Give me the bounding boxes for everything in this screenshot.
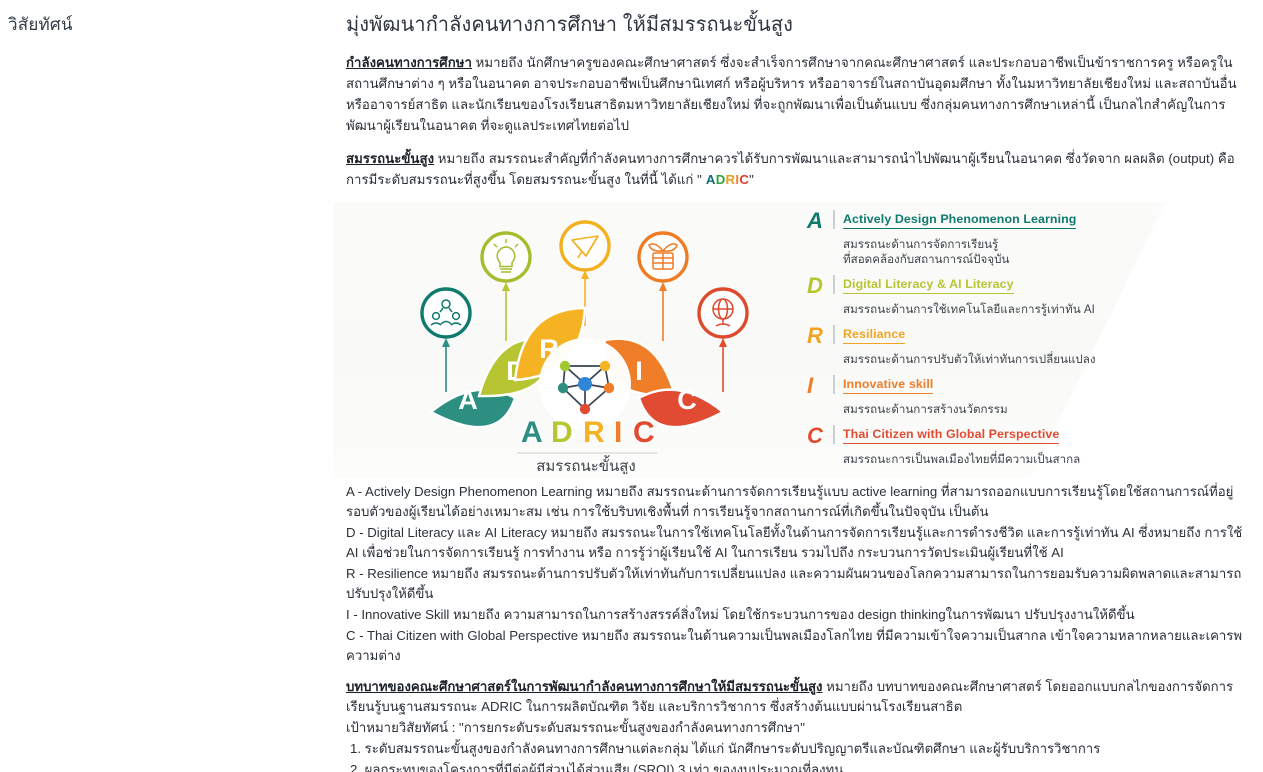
legend-title-a: Actively Design Phenomenon Learning [843, 212, 1076, 229]
svg-text:C: C [677, 385, 697, 415]
paper-plane-icon [561, 222, 609, 270]
legend-title-c: Thai Citizen with Global Perspective [843, 427, 1059, 444]
vision-goal-item: 1. ระดับสมรรถนะขั้นสูงของกำลังคนทางการศึ… [350, 739, 1247, 759]
svg-text:I: I [635, 356, 643, 386]
paragraph-faculty-role: บทบาทของคณะศึกษาศาสตร์ในการพัฒนากำลังคนท… [346, 677, 1247, 717]
paragraph-manpower: กำลังคนทางการศึกษา หมายถึง นักศึกษาครูขอ… [346, 52, 1247, 136]
adric-letter-d: D [716, 172, 726, 187]
legend-desc-c: สมรรถนะการเป็นพลเมืองไทยที่มีความเป็นสาก… [843, 452, 1137, 467]
definition-d: D - Digital Literacy และ AI Literacy หมา… [346, 523, 1247, 563]
vision-goal-item: 2. ผลกระทบของโครงการที่มีต่อผู้มีส่วนได้… [350, 760, 1247, 772]
adric-diagram-svg: A D R [405, 206, 765, 474]
term-competency-text-before: หมายถึง สมรรถนะสำคัญที่กำลังคนทางการศึกษ… [346, 151, 1235, 187]
legend-desc-d: สมรรถนะด้านการใช้เทคโนโลยีและการรู้เท่าท… [843, 302, 1137, 317]
term-competency-text-after: " [749, 172, 754, 187]
legend-row-i: I Innovative skill สมรรถนะด้านการสร้างนว… [807, 375, 1137, 417]
legend-title-d: Digital Literacy & AI Literacy [843, 277, 1014, 294]
people-network-icon [422, 289, 470, 337]
legend-row-r: R Resiliance สมรรถนะด้านการปรับตัวให้เท่… [807, 325, 1137, 367]
svg-text:A: A [458, 385, 478, 415]
legend-desc-i: สมรรถนะด้านการสร้างนวัตกรรม [843, 402, 1137, 417]
legend-desc-a: สมรรถนะด้านการจัดการเรียนรู้ ที่สอดคล้อง… [843, 237, 1137, 267]
term-manpower-text: หมายถึง นักศึกษาครูของคณะศึกษาศาสตร์ ซึ่… [346, 55, 1237, 133]
term-competency-label: สมรรถนะขั้นสูง [346, 151, 434, 166]
legend-title-i: Innovative skill [843, 377, 933, 394]
definition-i: I - Innovative Skill หมายถึง ความสามารถใ… [346, 605, 1247, 625]
legend-letter-r: R [807, 325, 831, 347]
lightbulb-icon [482, 233, 530, 281]
legend-row-a: A Actively Design Phenomenon Learning สม… [807, 210, 1137, 267]
vision-page: วิสัยทัศน์ มุ่งพัฒนากำลังคนทางการศึกษา ใ… [0, 0, 1263, 772]
wordmark-letter-r: R [583, 416, 610, 449]
legend-letter-d: D [807, 275, 831, 297]
sidebar-title: วิสัยทัศน์ [8, 11, 73, 38]
legend-desc-r: สมรรถนะด้านการปรับตัวให้เท่าทันการเปลี่ย… [843, 352, 1137, 367]
legend-title-r: Resiliance [843, 327, 905, 344]
definitions-block: A - Actively Design Phenomenon Learning … [346, 482, 1247, 772]
adric-wordmark: A D R I C [521, 416, 660, 449]
adric-letter-r: R [726, 172, 736, 187]
paragraph-competency: สมรรถนะขั้นสูง หมายถึง สมรรถนะสำคัญที่กำ… [346, 148, 1247, 190]
definition-a: A - Actively Design Phenomenon Learning … [346, 482, 1247, 522]
sidebar: วิสัยทัศน์ [0, 0, 333, 772]
adric-letter-a: A [706, 172, 716, 187]
adric-diagram: A D R [405, 206, 765, 474]
faculty-role-label: บทบาทของคณะศึกษาศาสตร์ในการพัฒนากำลังคนท… [346, 679, 822, 694]
definition-r: R - Resilience หมายถึง สมรรถนะด้านการปรั… [346, 564, 1247, 604]
vision-goal-list: 1. ระดับสมรรถนะขั้นสูงของกำลังคนทางการศึ… [346, 739, 1247, 772]
page-title: มุ่งพัฒนากำลังคนทางการศึกษา ให้มีสมรรถนะ… [346, 12, 1247, 38]
vision-goal-heading: เป้าหมายวิสัยทัศน์ : "การยกระดับระดับสมร… [346, 718, 1247, 738]
main-content: มุ่งพัฒนากำลังคนทางการศึกษา ให้มีสมรรถนะ… [333, 0, 1263, 772]
legend-row-d: D Digital Literacy & AI Literacy สมรรถนะ… [807, 275, 1137, 317]
legend-row-c: C Thai Citizen with Global Perspective ส… [807, 425, 1137, 467]
adric-letter-c: C [739, 172, 749, 187]
definition-c: C - Thai Citizen with Global Perspective… [346, 626, 1247, 666]
legend-letter-c: C [807, 425, 831, 447]
wordmark-caption: สมรรถนะขั้นสูง [536, 455, 636, 474]
adric-legend: A Actively Design Phenomenon Learning สม… [807, 210, 1137, 475]
sprout-gift-icon [639, 233, 687, 281]
wordmark-letter-d: D [551, 416, 578, 449]
wordmark-letter-c: C [633, 416, 660, 449]
wordmark-letter-a: A [521, 416, 548, 449]
legend-letter-i: I [807, 375, 831, 397]
wordmark-letter-i: I [614, 416, 627, 449]
adric-inline: ADRIC [702, 172, 749, 187]
term-manpower-label: กำลังคนทางการศึกษา [346, 55, 472, 70]
adric-infographic: A D R [333, 202, 1263, 478]
globe-icon [699, 289, 747, 337]
legend-letter-a: A [807, 210, 831, 232]
